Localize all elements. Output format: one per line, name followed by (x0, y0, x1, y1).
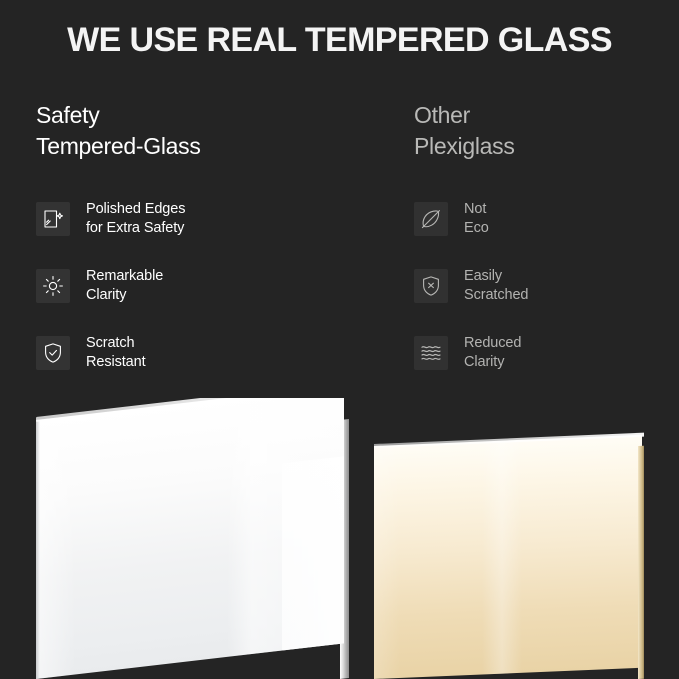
headline: WE USE REAL TEMPERED GLASS (0, 20, 679, 60)
wavy-lines-icon (414, 336, 448, 370)
feature-list-tempered-glass: Polished Edges for Extra Safety (36, 196, 336, 375)
column-tempered-glass: Safety Tempered-Glass Polished Edges for… (36, 100, 336, 397)
tempered-glass-panel-left-edge (36, 420, 40, 679)
plexiglass-panel-edge (638, 446, 644, 679)
column-title-tempered-glass: Safety Tempered-Glass (36, 100, 336, 162)
feature-list-plexiglass: Not Eco Easily Scratched (414, 196, 679, 375)
feature-polished-edges: Polished Edges for Extra Safety (36, 196, 336, 241)
product-photo (0, 398, 679, 679)
sun-clarity-icon (36, 269, 70, 303)
feature-label-remarkable-clarity: Remarkable Clarity (86, 267, 163, 305)
feature-remarkable-clarity: Remarkable Clarity (36, 263, 336, 308)
leaf-crossed-out-icon (414, 202, 448, 236)
column-title-plexiglass: Other Plexiglass (414, 100, 679, 162)
shield-check-icon (36, 336, 70, 370)
column-plexiglass: Other Plexiglass Not Eco (414, 100, 679, 397)
feature-label-reduced-clarity: Reduced Clarity (464, 334, 521, 372)
feature-scratch-resistant: Scratch Resistant (36, 330, 336, 375)
tempered-glass-panel (36, 398, 344, 679)
product-comparison-image: WE USE REAL TEMPERED GLASS Safety Temper… (0, 0, 679, 679)
comparison-columns: Safety Tempered-Glass Polished Edges for… (0, 100, 679, 400)
feature-label-polished-edges: Polished Edges for Extra Safety (86, 200, 185, 238)
feature-reduced-clarity: Reduced Clarity (414, 330, 679, 375)
feature-label-easily-scratched: Easily Scratched (464, 267, 528, 305)
feature-not-eco: Not Eco (414, 196, 679, 241)
shield-cross-icon (414, 269, 448, 303)
plexiglass-panel (374, 435, 642, 679)
feature-easily-scratched: Easily Scratched (414, 263, 679, 308)
feature-label-not-eco: Not Eco (464, 200, 489, 238)
feature-label-scratch-resistant: Scratch Resistant (86, 334, 146, 372)
polished-edge-sparkle-icon (36, 202, 70, 236)
